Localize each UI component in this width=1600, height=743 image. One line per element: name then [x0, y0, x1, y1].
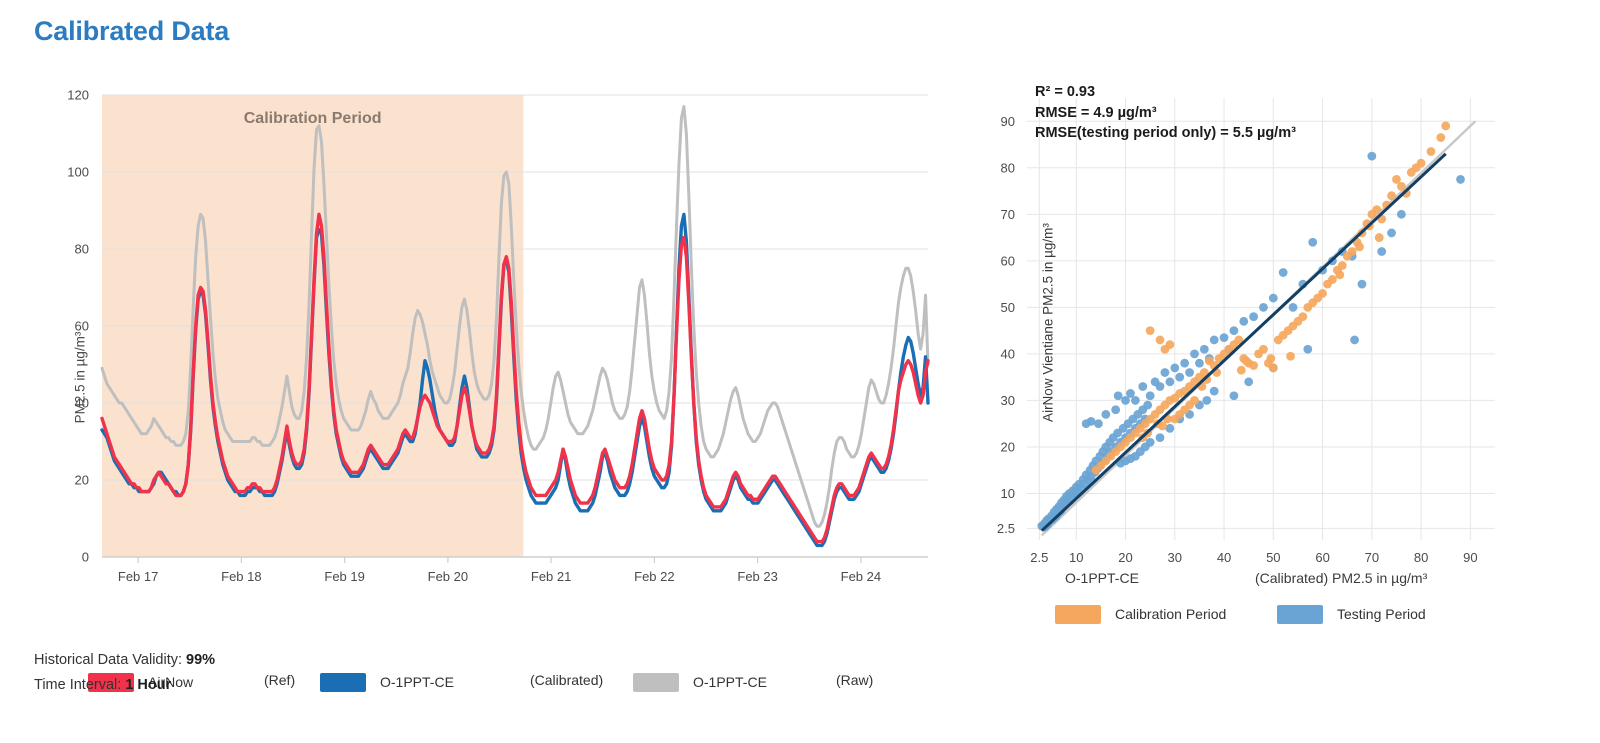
scatter-point-0	[1180, 359, 1189, 368]
time-interval: Time Interval: 1 Hour	[34, 677, 171, 693]
scatter-point-0	[1220, 333, 1229, 342]
svg-text:50: 50	[1266, 550, 1280, 565]
scatter-point-1	[1441, 122, 1450, 131]
scatter-point-1	[1249, 361, 1258, 370]
svg-text:30: 30	[1168, 550, 1182, 565]
scatter-point-0	[1190, 349, 1199, 358]
scatter-point-0	[1358, 280, 1367, 289]
scatter-point-0	[1249, 312, 1258, 321]
svg-text:80: 80	[1414, 550, 1428, 565]
legend-swatch-calibrated	[320, 673, 366, 692]
scatter-point-0	[1131, 396, 1140, 405]
svg-text:Feb 19: Feb 19	[324, 569, 364, 584]
svg-text:10: 10	[1069, 550, 1083, 565]
legend-note-raw: (Raw)	[836, 672, 873, 688]
scatter-point-0	[1397, 210, 1406, 219]
scatter-point-1	[1348, 247, 1357, 256]
svg-text:60: 60	[1001, 253, 1015, 268]
interval-label: Time Interval:	[34, 677, 121, 693]
legend-item-calibration-period[interactable]: Calibration Period	[1055, 602, 1226, 626]
scatter-point-0	[1230, 326, 1239, 335]
scatter-x-axis-label-sensor: O-1PPT-CE	[1065, 570, 1139, 586]
scatter-point-1	[1146, 326, 1155, 335]
legend-label-calibrated: O-1PPT-CE	[380, 674, 454, 690]
stat-rmse-testing: RMSE(testing period only) = 5.5 µg/m³	[1035, 123, 1296, 144]
scatter-point-1	[1338, 261, 1347, 270]
scatter-point-1	[1259, 345, 1268, 354]
svg-text:20: 20	[1001, 439, 1015, 454]
scatter-point-0	[1350, 336, 1359, 345]
validity-label: Historical Data Validity:	[34, 652, 182, 668]
svg-text:Feb 17: Feb 17	[118, 569, 158, 584]
calibration-period-label: Calibration Period	[244, 110, 382, 127]
scatter-point-1	[1190, 396, 1199, 405]
scatter-point-0	[1146, 391, 1155, 400]
legend-swatch-testing-period	[1277, 605, 1323, 624]
scatter-point-1	[1328, 275, 1337, 284]
scatter-point-1	[1242, 356, 1251, 365]
scatter-point-0	[1094, 419, 1103, 428]
timeseries-legend: AirNow (Ref) O-1PPT-CE (Calibrated) O-1P…	[88, 670, 948, 696]
scatter-point-0	[1175, 373, 1184, 382]
scatter-point-0	[1308, 238, 1317, 247]
svg-text:Feb 20: Feb 20	[428, 569, 468, 584]
timeseries-y-axis-label: PM2.5 in µg/m³	[73, 278, 88, 478]
scatter-chart-panel: 2.51020304050607080902.51020304050607080…	[955, 70, 1600, 630]
scatter-point-0	[1456, 175, 1465, 184]
interval-value: 1 Hour	[125, 677, 171, 693]
svg-text:90: 90	[1001, 114, 1015, 129]
scatter-point-1	[1427, 147, 1436, 156]
scatter-point-1	[1298, 312, 1307, 321]
scatter-x-axis-label-units: (Calibrated) PM2.5 in µg/m³	[1255, 570, 1427, 586]
scatter-point-0	[1279, 268, 1288, 277]
stat-rmse: RMSE = 4.9 µg/m³	[1035, 103, 1296, 124]
svg-text:40: 40	[1001, 346, 1015, 361]
validity-value: 99%	[186, 652, 215, 668]
timeseries-svg: 020406080100120Calibration PeriodFeb 17F…	[0, 70, 950, 630]
svg-text:100: 100	[67, 165, 89, 180]
scatter-point-0	[1303, 345, 1312, 354]
scatter-point-0	[1387, 229, 1396, 238]
scatter-point-1	[1372, 205, 1381, 214]
scatter-point-0	[1239, 317, 1248, 326]
svg-text:70: 70	[1001, 207, 1015, 222]
svg-text:20: 20	[1118, 550, 1132, 565]
svg-text:120: 120	[67, 88, 89, 103]
svg-text:90: 90	[1463, 550, 1477, 565]
legend-label-calibration-period: Calibration Period	[1115, 606, 1226, 622]
svg-text:80: 80	[1001, 160, 1015, 175]
scatter-point-0	[1101, 410, 1110, 419]
scatter-point-0	[1210, 387, 1219, 396]
scatter-point-1	[1266, 354, 1275, 363]
legend-item-raw[interactable]: O-1PPT-CE	[633, 670, 767, 694]
screenshot-root: Calibrated Data 020406080100120Calibrati…	[0, 0, 1600, 743]
scatter-point-1	[1156, 336, 1165, 345]
scatter-point-0	[1202, 396, 1211, 405]
scatter-point-0	[1170, 363, 1179, 372]
timeseries-chart-panel: 020406080100120Calibration PeriodFeb 17F…	[0, 70, 950, 630]
scatter-point-0	[1289, 303, 1298, 312]
svg-text:40: 40	[1217, 550, 1231, 565]
stat-r2: R² = 0.93	[1035, 82, 1296, 103]
svg-text:10: 10	[1001, 486, 1015, 501]
svg-text:70: 70	[1365, 550, 1379, 565]
legend-label-raw: O-1PPT-CE	[693, 674, 767, 690]
scatter-point-0	[1269, 294, 1278, 303]
svg-text:2.5: 2.5	[1030, 550, 1048, 565]
svg-text:Feb 18: Feb 18	[221, 569, 261, 584]
scatter-point-1	[1237, 366, 1246, 375]
scatter-point-0	[1165, 377, 1174, 386]
scatter-point-1	[1335, 270, 1344, 279]
legend-note-ref: (Ref)	[264, 672, 295, 688]
scatter-point-0	[1138, 382, 1147, 391]
regression-line	[1042, 154, 1446, 531]
scatter-point-1	[1375, 233, 1384, 242]
historical-data-validity: Historical Data Validity: 99%	[34, 652, 215, 668]
scatter-point-0	[1200, 345, 1209, 354]
svg-text:60: 60	[1315, 550, 1329, 565]
legend-label-testing-period: Testing Period	[1337, 606, 1426, 622]
svg-text:Feb 22: Feb 22	[634, 569, 674, 584]
scatter-point-1	[1392, 175, 1401, 184]
scatter-point-1	[1269, 363, 1278, 372]
scatter-point-0	[1377, 247, 1386, 256]
scatter-point-1	[1165, 340, 1174, 349]
scatter-point-0	[1230, 391, 1239, 400]
svg-text:50: 50	[1001, 300, 1015, 315]
scatter-point-1	[1286, 352, 1295, 361]
scatter-point-0	[1195, 359, 1204, 368]
scatter-point-1	[1387, 191, 1396, 200]
scatter-point-0	[1143, 401, 1152, 410]
scatter-point-1	[1318, 289, 1327, 298]
legend-item-calibrated[interactable]: O-1PPT-CE	[320, 670, 454, 694]
scatter-y-axis-label: AirNow Vientiane PM2.5 in µg/m³	[1041, 148, 1056, 498]
page-title: Calibrated Data	[34, 16, 229, 47]
scatter-point-0	[1156, 433, 1165, 442]
scatter-point-0	[1244, 377, 1253, 386]
scatter-point-1	[1355, 242, 1364, 251]
scatter-point-1	[1436, 133, 1445, 142]
scatter-point-0	[1259, 303, 1268, 312]
legend-swatch-calibration-period	[1055, 605, 1101, 624]
svg-text:Feb 24: Feb 24	[841, 569, 881, 584]
scatter-point-0	[1111, 405, 1120, 414]
scatter-point-0	[1210, 336, 1219, 345]
svg-text:Feb 21: Feb 21	[531, 569, 571, 584]
legend-swatch-raw	[633, 673, 679, 692]
svg-text:0: 0	[82, 550, 89, 565]
svg-text:Feb 23: Feb 23	[737, 569, 777, 584]
scatter-stats-box: R² = 0.93 RMSE = 4.9 µg/m³ RMSE(testing …	[1035, 82, 1296, 144]
scatter-point-1	[1412, 163, 1421, 172]
legend-note-calibrated: (Calibrated)	[530, 672, 603, 688]
scatter-point-0	[1161, 368, 1170, 377]
scatter-point-0	[1367, 152, 1376, 161]
scatter-legend: Calibration Period Testing Period	[1055, 602, 1555, 626]
scatter-point-0	[1156, 382, 1165, 391]
legend-item-testing-period[interactable]: Testing Period	[1277, 602, 1426, 626]
scatter-point-0	[1185, 368, 1194, 377]
svg-text:30: 30	[1001, 393, 1015, 408]
svg-text:2.5: 2.5	[997, 521, 1015, 536]
scatter-point-0	[1114, 391, 1123, 400]
svg-text:80: 80	[75, 242, 89, 257]
